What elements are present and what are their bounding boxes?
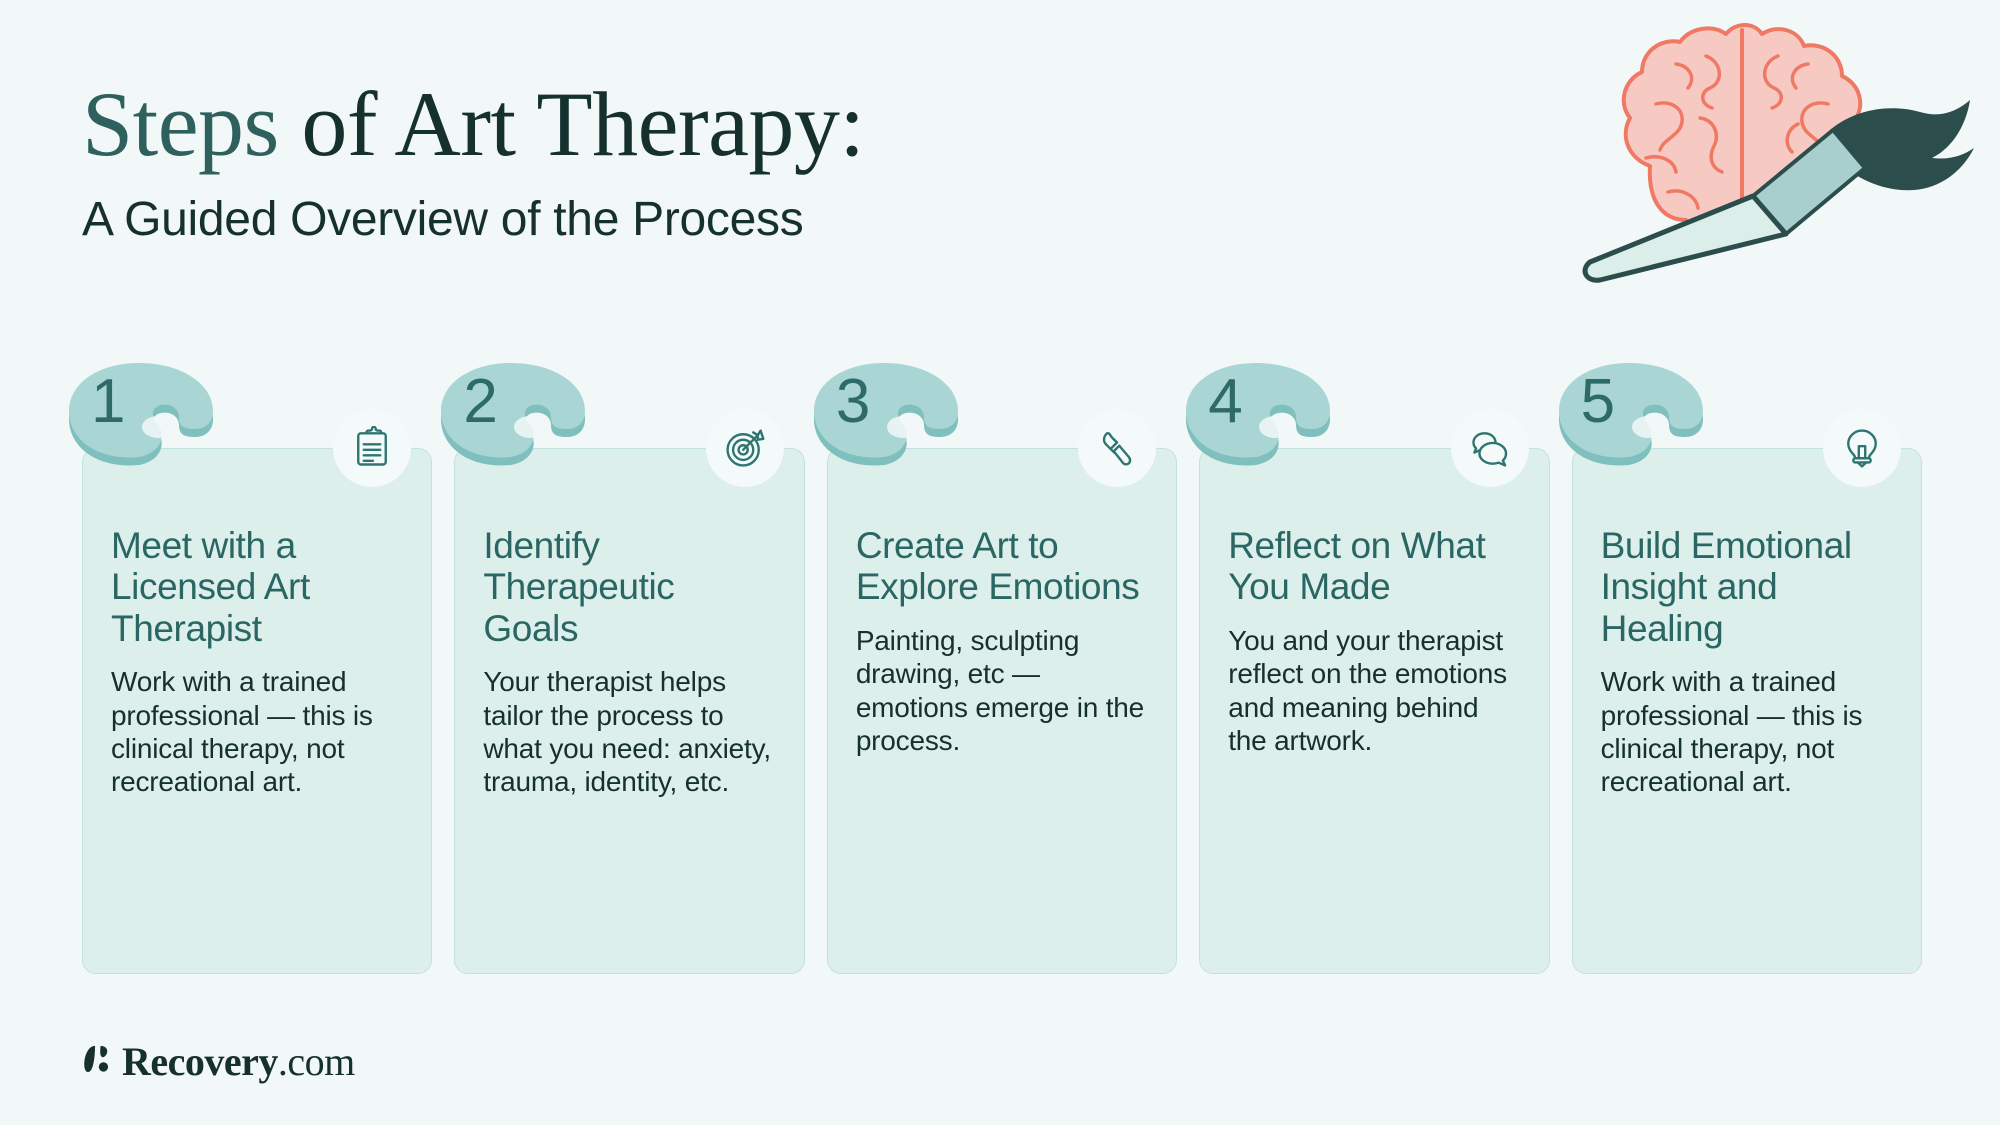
leaf-mark-icon	[82, 1044, 110, 1079]
step-card-title: Create Art to Explore Emotions	[856, 525, 1148, 608]
step-number-3: 3	[836, 371, 870, 433]
step-card-body: Your therapist helps tailor the process …	[483, 665, 775, 798]
step-number-2: 2	[463, 371, 497, 433]
palette-badge-2: 2	[437, 357, 589, 467]
steps-card-list: 1 Meet with a Licensed Art Therapist Wor…	[82, 448, 1922, 974]
logo-tld: .com	[278, 1039, 355, 1084]
lightbulb-icon	[1823, 409, 1901, 487]
step-number-5: 5	[1581, 371, 1615, 433]
paintbrush-icon	[1078, 409, 1156, 487]
step-card-5[interactable]: 5 Build Emotional Insight and Healing Wo…	[1572, 448, 1922, 974]
page-title: Steps of Art Therapy:	[82, 78, 1182, 170]
step-card-body: Work with a trained professional — this …	[1601, 665, 1893, 798]
step-card-body: You and your therapist reflect on the em…	[1228, 624, 1520, 757]
header: Steps of Art Therapy: A Guided Overview …	[82, 78, 1182, 247]
footer-logo[interactable]: Recovery.com	[82, 1038, 355, 1085]
logo-name: Recovery	[122, 1039, 278, 1084]
page-title-rest: of Art Therapy:	[279, 73, 865, 175]
step-card-4[interactable]: 4 Reflect on What You Made You and your …	[1199, 448, 1549, 974]
page-subtitle: A Guided Overview of the Process	[82, 194, 1182, 247]
step-card-title: Reflect on What You Made	[1228, 525, 1520, 608]
palette-badge-4: 4	[1182, 357, 1334, 467]
step-card-3[interactable]: 3 Create Art to Explore Emotions Paintin…	[827, 448, 1177, 974]
palette-badge-3: 3	[810, 357, 962, 467]
step-card-title: Meet with a Licensed Art Therapist	[111, 525, 403, 649]
speech-bubbles-icon	[1451, 409, 1529, 487]
step-card-2[interactable]: 2 Identify Therapeutic Goals Your therap…	[454, 448, 804, 974]
step-card-body: Work with a trained professional — this …	[111, 665, 403, 798]
step-card-title: Build Emotional Insight and Healing	[1601, 525, 1893, 649]
brain-with-paintbrush-illustration	[1500, 8, 2000, 283]
palette-badge-5: 5	[1555, 357, 1707, 467]
step-number-1: 1	[91, 371, 125, 433]
logo-wordmark: Recovery.com	[122, 1038, 355, 1085]
step-card-body: Painting, sculpting drawing, etc — emoti…	[856, 624, 1148, 757]
target-icon	[706, 409, 784, 487]
step-card-1[interactable]: 1 Meet with a Licensed Art Therapist Wor…	[82, 448, 432, 974]
page-title-accent: Steps	[82, 73, 279, 175]
clipboard-icon	[333, 409, 411, 487]
palette-badge-1: 1	[65, 357, 217, 467]
step-card-title: Identify Therapeutic Goals	[483, 525, 775, 649]
step-number-4: 4	[1208, 371, 1242, 433]
